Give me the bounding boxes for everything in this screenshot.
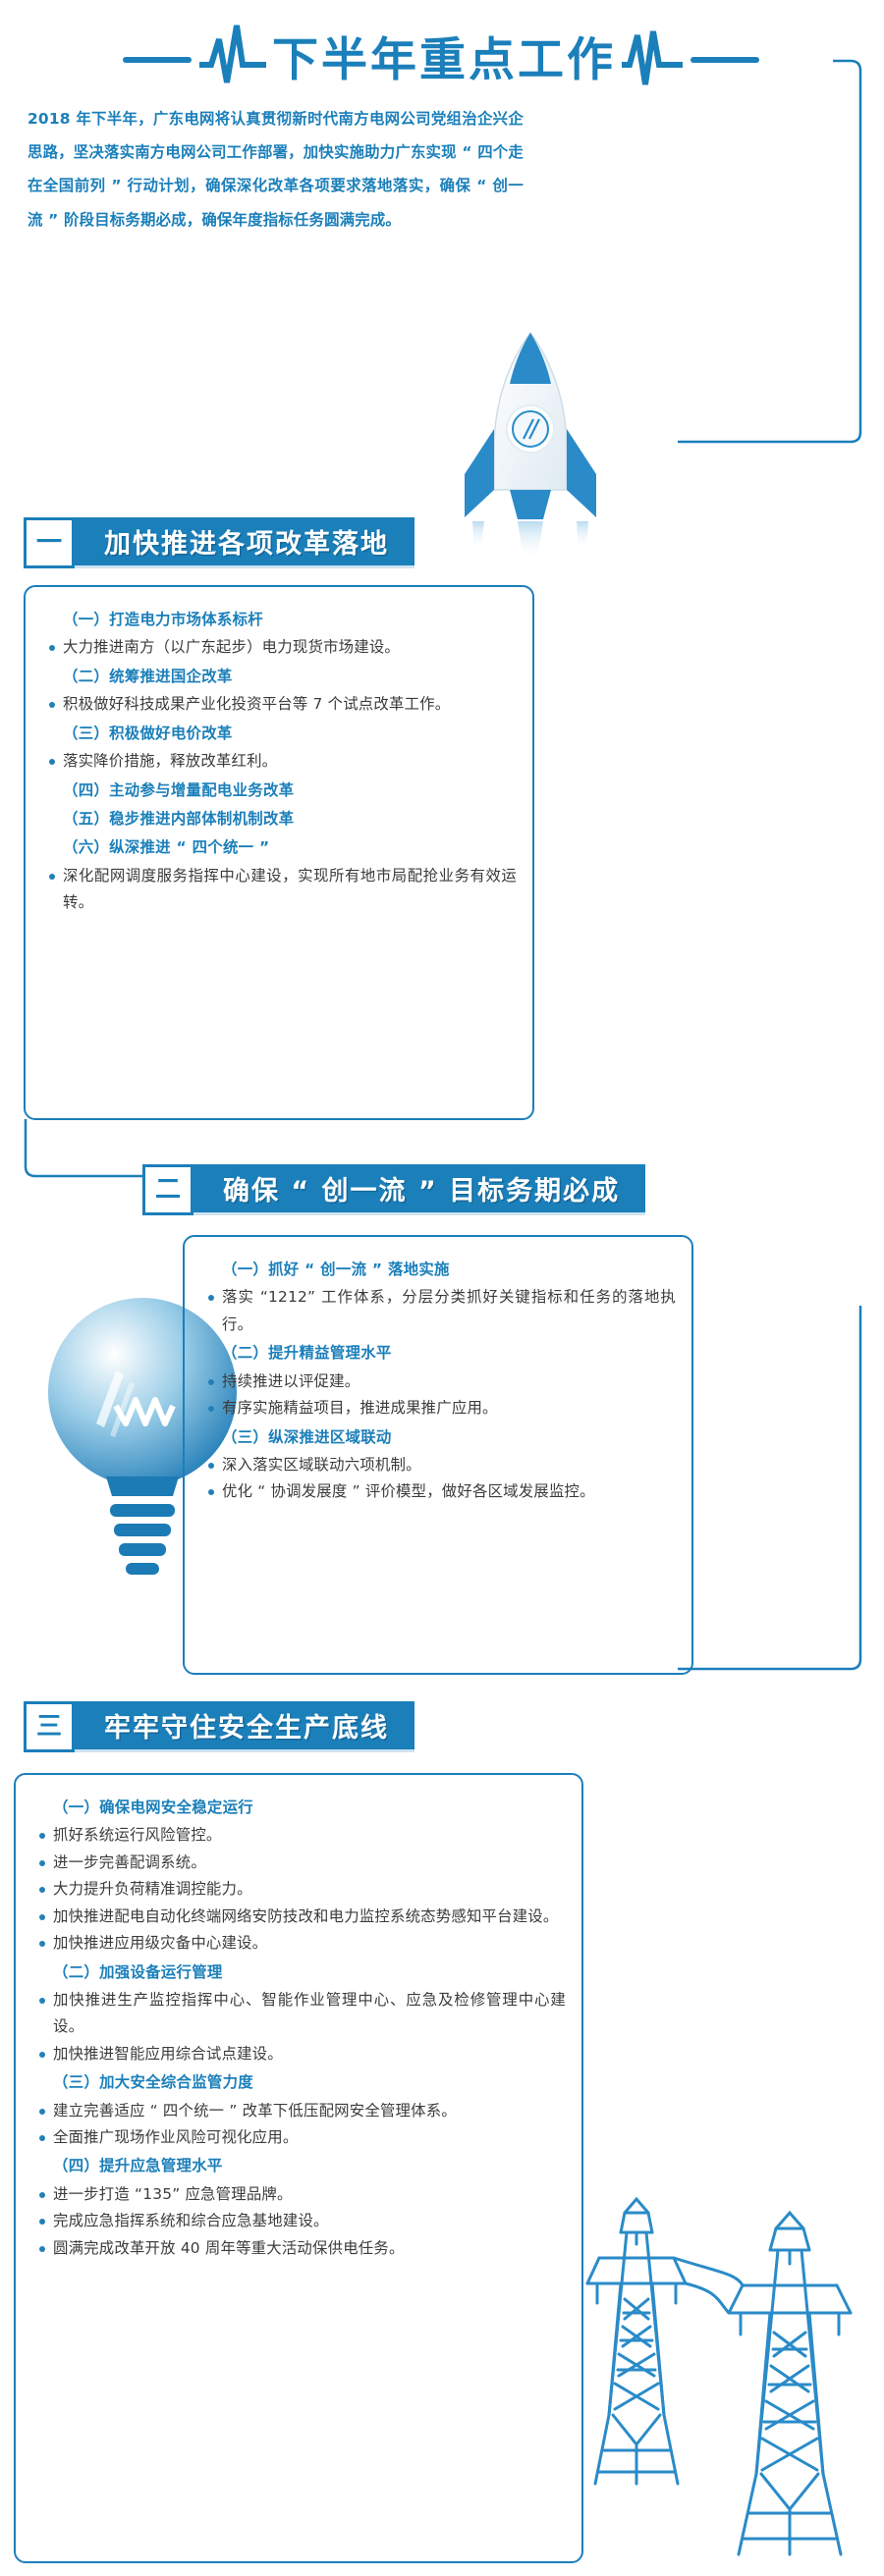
infographic-page: 下半年重点工作 2018 年下半年，广东电网将认真贯彻新时代南方电网公司党组治企… bbox=[0, 0, 884, 2576]
sub-heading: （二）加强设备运行管理 bbox=[53, 1959, 566, 1986]
list-item: 加快推进智能应用综合试点建设。 bbox=[37, 2041, 566, 2067]
list-item: 优化 “ 协调发展度 ” 评价模型，做好各区域发展监控。 bbox=[206, 1478, 676, 1505]
list-item: 抓好系统运行风险管控。 bbox=[37, 1822, 566, 1849]
rocket-icon bbox=[447, 327, 614, 563]
page-title-row: 下半年重点工作 bbox=[0, 18, 884, 102]
section-3-bar: 牢牢守住安全生产底线 bbox=[75, 1701, 414, 1752]
page-title: 下半年重点工作 bbox=[272, 37, 616, 83]
list-item: 持续推进以评促建。 bbox=[206, 1368, 676, 1395]
section-3-title: 牢牢守住安全生产底线 bbox=[104, 1706, 389, 1744]
list-item: 加快推进应用级灾备中心建设。 bbox=[37, 1930, 566, 1957]
sub-heading: （三）加大安全综合监管力度 bbox=[53, 2069, 566, 2096]
sub-heading: （二）统筹推进国企改革 bbox=[63, 664, 517, 690]
list-item: 进一步完善配调系统。 bbox=[37, 1850, 566, 1876]
list-item: 圆满完成改革开放 40 周年等重大活动保供电任务。 bbox=[37, 2235, 566, 2262]
list-item: 完成应急指挥系统和综合应急基地建设。 bbox=[37, 2208, 566, 2234]
list-item: 有序实施精益项目，推进成果推广应用。 bbox=[206, 1395, 676, 1422]
list-item: 落实降价措施，释放改革红利。 bbox=[47, 748, 517, 775]
sub-heading: （四）提升应急管理水平 bbox=[53, 2153, 566, 2179]
section-1-bar: 加快推进各项改革落地 bbox=[75, 517, 414, 568]
sub-heading: （五）稳步推进内部体制机制改革 bbox=[63, 806, 517, 832]
list-item: 加快推进配电自动化终端网络安防技改和电力监控系统态势感知平台建设。 bbox=[37, 1904, 566, 1930]
section-3-card: （一）确保电网安全稳定运行 抓好系统运行风险管控。 进一步完善配调系统。 大力提… bbox=[14, 1773, 583, 2563]
section-3-number: 三 bbox=[24, 1701, 75, 1752]
sub-heading: （三）积极做好电价改革 bbox=[63, 721, 517, 747]
section-1-title: 加快推进各项改革落地 bbox=[104, 522, 389, 561]
section-3-content: （一）确保电网安全稳定运行 抓好系统运行风险管控。 进一步完善配调系统。 大力提… bbox=[16, 1775, 581, 2276]
list-item: 深入落实区域联动六项机制。 bbox=[206, 1452, 676, 1478]
pulse-zigzag-right-icon bbox=[620, 22, 685, 98]
title-rule-left bbox=[123, 57, 192, 63]
section-2-bar: 确保 “ 创一流 ” 目标务期必成 bbox=[193, 1164, 645, 1215]
list-item: 积极做好科技成果产业化投资平台等 7 个试点改革工作。 bbox=[47, 691, 517, 718]
list-item: 建立完善适应 “ 四个统一 ” 改革下低压配网安全管理体系。 bbox=[37, 2098, 566, 2124]
sub-heading: （一）打造电力市场体系标杆 bbox=[63, 607, 517, 633]
section-3-header[interactable]: 三 牢牢守住安全生产底线 bbox=[24, 1701, 414, 1752]
sub-heading: （四）主动参与增量配电业务改革 bbox=[63, 778, 517, 804]
section-2-card: （一）抓好 “ 创一流 ” 落地实施 落实 “1212” 工作体系，分层分类抓好… bbox=[183, 1235, 693, 1675]
sub-heading: （六）纵深推进 “ 四个统一 ” bbox=[63, 834, 517, 861]
intro-paragraph: 2018 年下半年，广东电网将认真贯彻新时代南方电网公司党组治企兴企思路，坚决落… bbox=[28, 102, 524, 237]
pulse-zigzag-left-icon bbox=[197, 22, 268, 98]
list-item: 大力提升负荷精准调控能力。 bbox=[37, 1876, 566, 1903]
section-2-header[interactable]: 二 确保 “ 创一流 ” 目标务期必成 bbox=[142, 1164, 645, 1215]
transmission-tower-icon bbox=[570, 2189, 884, 2576]
section-1-content: （一）打造电力市场体系标杆 大力推进南方（以广东起步）电力现货市场建设。 （二）… bbox=[26, 587, 532, 931]
list-item: 深化配网调度服务指挥中心建设，实现所有地市局配抢业务有效运转。 bbox=[47, 863, 517, 917]
section-1-header[interactable]: 一 加快推进各项改革落地 bbox=[24, 517, 414, 568]
sub-heading: （二）提升精益管理水平 bbox=[222, 1340, 676, 1367]
section-2-title: 确保 “ 创一流 ” 目标务期必成 bbox=[223, 1169, 620, 1207]
list-item: 全面推广现场作业风险可视化应用。 bbox=[37, 2124, 566, 2151]
section-1-card: （一）打造电力市场体系标杆 大力推进南方（以广东起步）电力现货市场建设。 （二）… bbox=[24, 585, 534, 1120]
section-2-content: （一）抓好 “ 创一流 ” 落地实施 落实 “1212” 工作体系，分层分类抓好… bbox=[185, 1237, 691, 1520]
sub-heading: （一）抓好 “ 创一流 ” 落地实施 bbox=[222, 1257, 676, 1283]
list-item: 加快推进生产监控指挥中心、智能作业管理中心、应急及检修管理中心建设。 bbox=[37, 1987, 566, 2041]
list-item: 进一步打造 “135” 应急管理品牌。 bbox=[37, 2181, 566, 2208]
sub-heading: （一）确保电网安全稳定运行 bbox=[53, 1795, 566, 1821]
section-1-number: 一 bbox=[24, 517, 75, 568]
list-item: 大力推进南方（以广东起步）电力现货市场建设。 bbox=[47, 634, 517, 661]
list-item: 落实 “1212” 工作体系，分层分类抓好关键指标和任务的落地执行。 bbox=[206, 1284, 676, 1338]
title-rule-right bbox=[691, 57, 759, 63]
section-2-number: 二 bbox=[142, 1164, 193, 1215]
sub-heading: （三）纵深推进区域联动 bbox=[222, 1424, 676, 1451]
